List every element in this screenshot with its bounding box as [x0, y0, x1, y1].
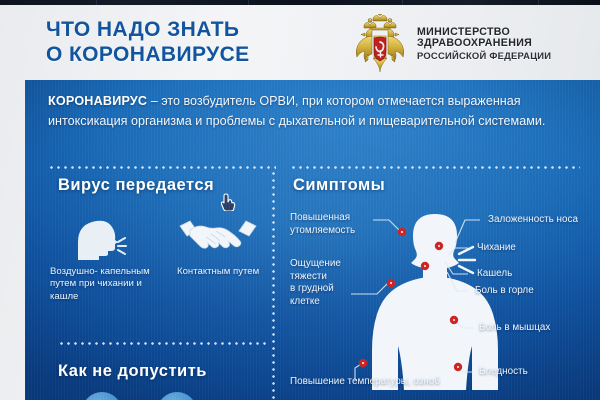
screenshot-root: ЧТО НАДО ЗНАТЬ О КОРОНАВИРУСЕ	[0, 0, 600, 400]
divider-dotted-vertical	[272, 170, 275, 400]
symptom-label-pallor: Бледность	[479, 366, 528, 379]
symptom-label-fatigue: Повышенная утомляемость	[290, 212, 376, 237]
section-title-transmission: Вирус передается	[58, 176, 214, 195]
human-torso-silhouette-icon	[355, 210, 515, 390]
poster-blue-panel: КОРОНАВИРУС – это возбудитель ОРВИ, при …	[25, 80, 600, 400]
ministry-line-3: РОССИЙСКОЙ ФЕДЕРАЦИИ	[417, 50, 551, 62]
symptom-label-fever-chills: Повышение температуры, озноб	[290, 376, 440, 389]
symptom-label-nasal-congestion: Заложенность носа	[488, 214, 578, 227]
ministry-line-2: ЗДРАВООХРАНЕНИЯ	[417, 38, 551, 50]
handshake-icon	[178, 210, 258, 258]
intro-paragraph: КОРОНАВИРУС – это возбудитель ОРВИ, при …	[48, 92, 568, 131]
russian-coat-of-arms-emblem	[352, 14, 408, 74]
symptom-label-sore-throat: Боль в горле	[475, 285, 534, 298]
symptom-label-sneezing: Чихание	[477, 242, 516, 255]
transmission-caption-airborne: Воздушно- капельным путем при чихании и …	[50, 266, 170, 303]
section-title-prevention: Как не допустить	[58, 362, 207, 381]
page-title: ЧТО НАДО ЗНАТЬ О КОРОНАВИРУСЕ	[46, 17, 250, 67]
symptom-label-chest-heaviness: Ощущение тяжести в грудной клетке	[290, 258, 370, 308]
poster-header: ЧТО НАДО ЗНАТЬ О КОРОНАВИРУСЕ	[0, 5, 600, 80]
ministry-name: МИНИСТЕРСТВО ЗДРАВООХРАНЕНИЯ РОССИЙСКОЙ …	[417, 27, 551, 62]
symptom-label-muscle-pain: Боль в мышцах	[479, 322, 550, 335]
intro-lead-word: КОРОНАВИРУС	[48, 94, 147, 108]
pointing-hand-cursor	[221, 193, 237, 211]
divider-dotted-top-right	[290, 166, 580, 169]
sneezing-head-icon	[70, 208, 132, 260]
symptom-label-cough: Кашель	[477, 268, 512, 281]
prevention-circle-2	[157, 392, 197, 400]
divider-dotted-bottom-left	[58, 342, 268, 345]
section-title-symptoms: Симптомы	[293, 176, 385, 195]
transmission-caption-contact: Контактным путем	[177, 266, 272, 278]
divider-dotted-top-left	[48, 166, 276, 169]
ministry-logo-block: МИНИСТЕРСТВО ЗДРАВООХРАНЕНИЯ РОССИЙСКОЙ …	[352, 14, 551, 74]
prevention-circle-1	[82, 392, 122, 400]
